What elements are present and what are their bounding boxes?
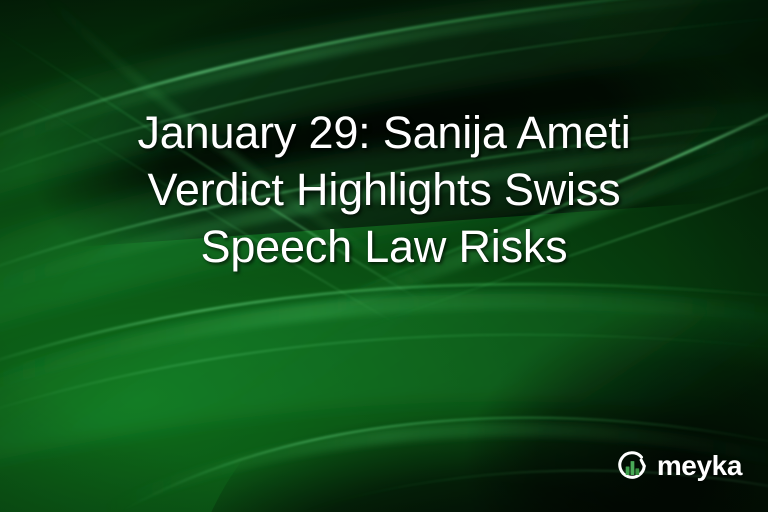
logo-bar-3 xyxy=(635,468,639,475)
page-title: January 29: Sanija Ameti Verdict Highlig… xyxy=(46,104,722,275)
logo-bar-2 xyxy=(630,461,634,475)
logo-bar-1 xyxy=(626,467,630,475)
brand-wordmark: meyka xyxy=(657,452,742,480)
title-card: January 29: Sanija Ameti Verdict Highlig… xyxy=(0,0,768,512)
meyka-bar-chart-ring-icon xyxy=(614,448,650,484)
title-block: January 29: Sanija Ameti Verdict Highlig… xyxy=(0,104,768,275)
brand-logo[interactable]: meyka xyxy=(614,448,742,484)
